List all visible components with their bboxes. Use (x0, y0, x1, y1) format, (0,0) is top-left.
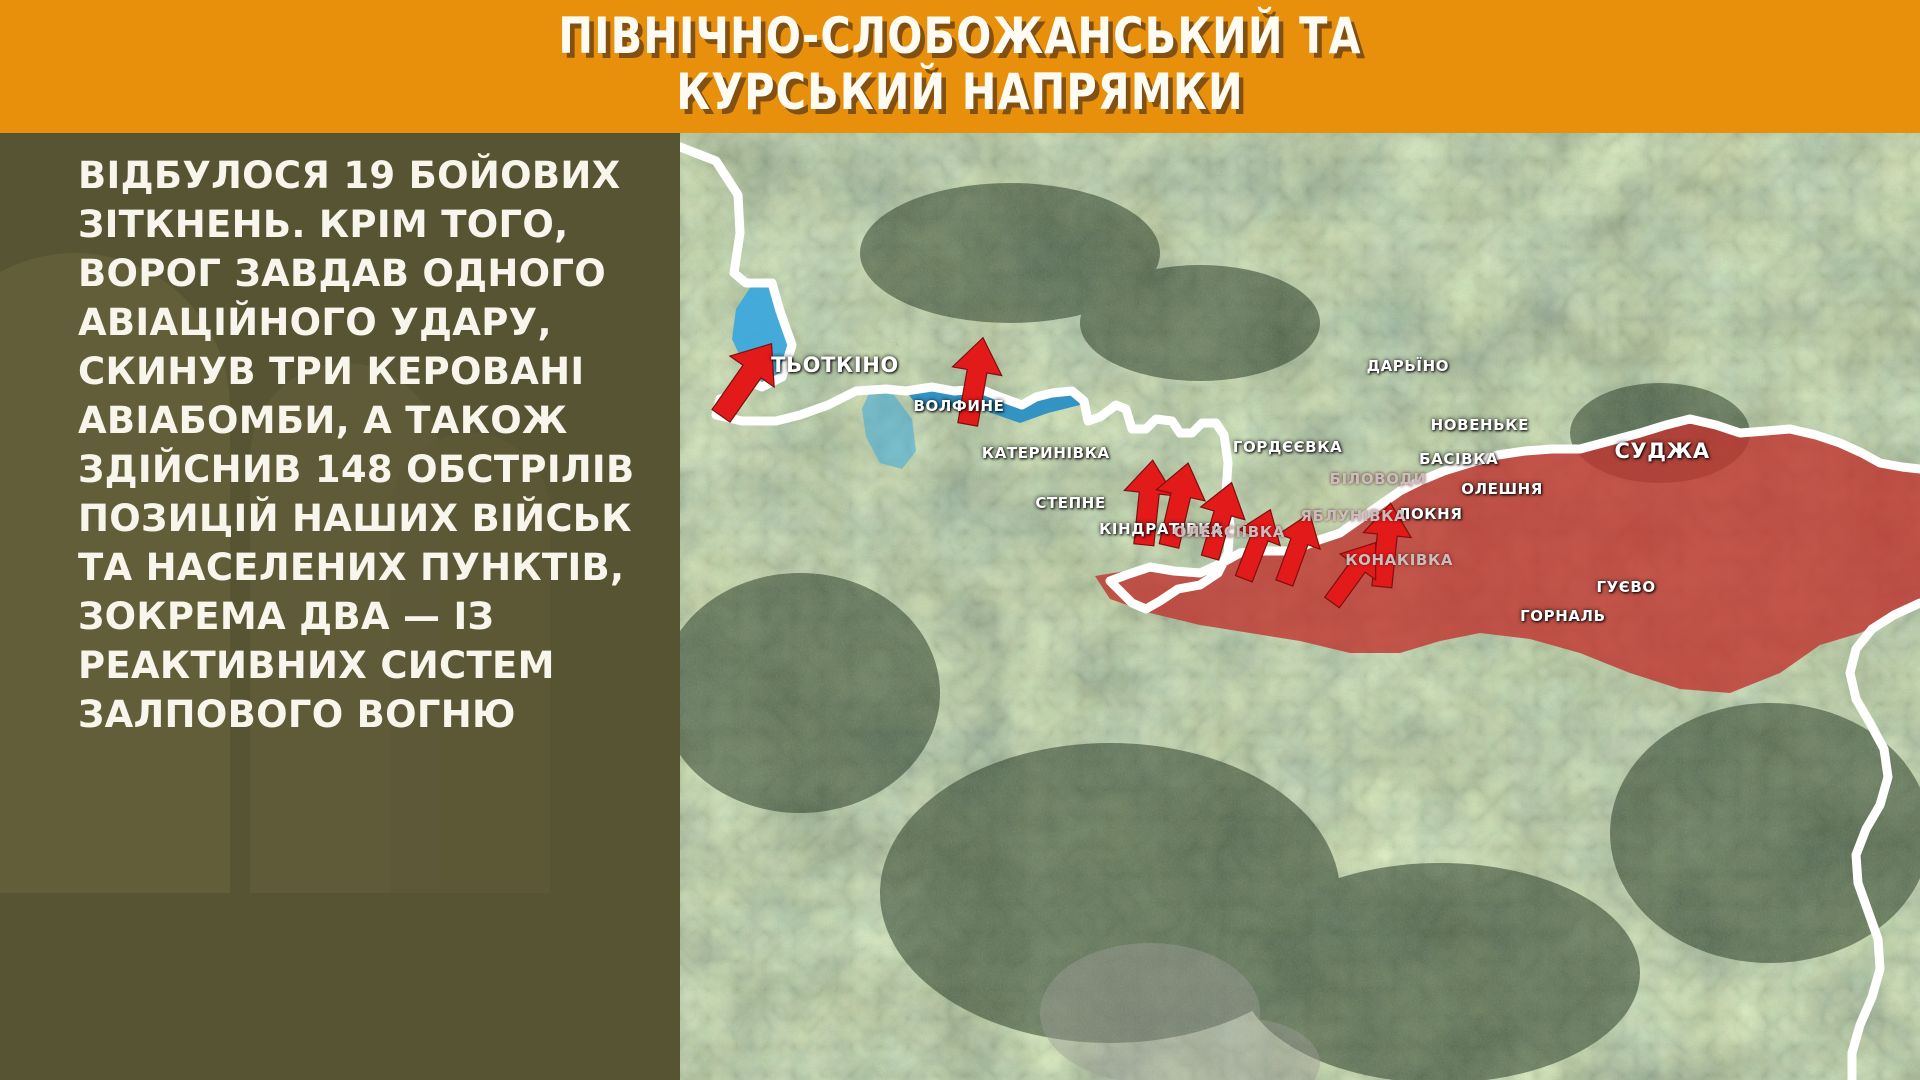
summary-panel: ВІДБУЛОСЯ 19 БОЙОВИХ ЗІТКНЕНЬ. КРІМ ТОГО… (0, 133, 680, 1080)
summary-text: ВІДБУЛОСЯ 19 БОЙОВИХ ЗІТКНЕНЬ. КРІМ ТОГО… (78, 151, 638, 739)
satellite-map: ТЬОТКІНОВОЛФИНЕКАТЕРИНІВКАСТЕПНЕКІНДРАТІ… (680, 133, 1920, 1080)
map-base-imagery (680, 133, 1920, 1080)
header-banner: ПІВНІЧНО-СЛОБОЖАНСЬКИЙ ТА КУРСЬКИЙ НАПРЯ… (0, 0, 1920, 133)
infographic-root: ПІВНІЧНО-СЛОБОЖАНСЬКИЙ ТА КУРСЬКИЙ НАПРЯ… (0, 0, 1920, 1080)
page-title: ПІВНІЧНО-СЛОБОЖАНСЬКИЙ ТА КУРСЬКИЙ НАПРЯ… (77, 8, 1843, 120)
